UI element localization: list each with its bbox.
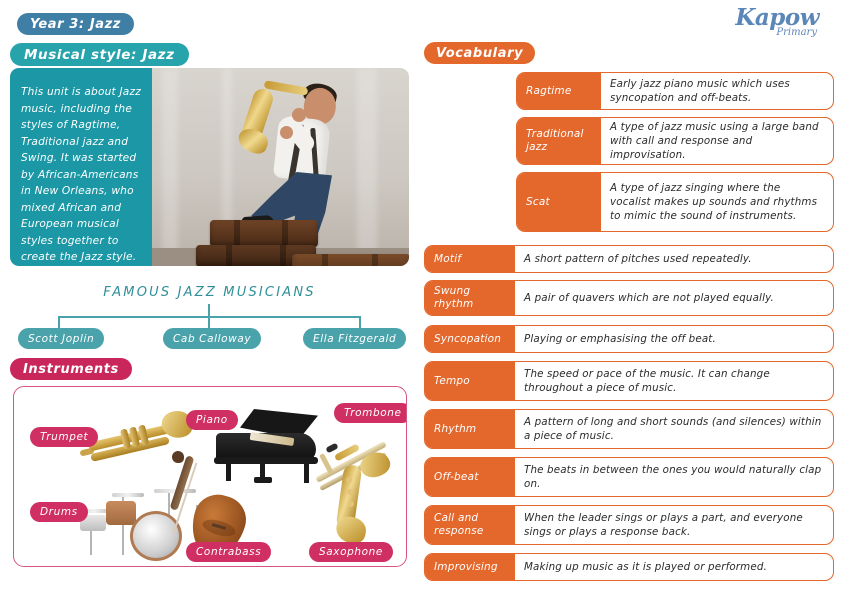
vocab-def-syncopation: Playing or emphasising the off beat. [515, 326, 833, 352]
vocab-term-syncopation: Syncopation [425, 326, 515, 352]
musician-pill-scott-joplin: Scott Joplin [18, 328, 104, 349]
boy-hand-lower [280, 126, 293, 139]
logo-wordmark: Kapow [735, 6, 819, 29]
tree-branch-left [58, 316, 60, 328]
vocab-row-improvising: Improvising Making up music as it is pla… [424, 553, 834, 581]
musician-pill-cab-calloway: Cab Calloway [163, 328, 261, 349]
vocab-row-off-beat: Off-beat The beats in between the ones y… [424, 457, 834, 497]
vocab-def-tempo: The speed or pace of the music. It can c… [515, 362, 833, 400]
instrument-pill-piano: Piano [186, 410, 238, 430]
vocab-term-call-and-response: Call and response [425, 506, 515, 544]
tree-branch-right [359, 316, 361, 328]
vocab-def-call-and-response: When the leader sings or plays a part, a… [515, 506, 833, 544]
boy-hand-upper [292, 108, 306, 122]
vocab-def-swung-rhythm: A pair of quavers which are not played e… [515, 281, 833, 315]
vocab-term-off-beat: Off-beat [425, 458, 515, 496]
vocab-term-improvising: Improvising [425, 554, 515, 580]
vocab-row-tempo: Tempo The speed or pace of the music. It… [424, 361, 834, 401]
vocab-row-ragtime: Ragtime Early jazz piano music which use… [516, 72, 834, 110]
instrument-pill-saxophone: Saxophone [309, 542, 393, 562]
instrument-pill-trumpet: Trumpet [30, 427, 98, 447]
vocab-row-syncopation: Syncopation Playing or emphasising the o… [424, 325, 834, 353]
vocab-term-traditional-jazz: Traditional jazz [517, 118, 601, 164]
saxophone-boy-photo [152, 68, 409, 266]
instrument-pill-trombone: Trombone [334, 403, 407, 423]
vocab-row-motif: Motif A short pattern of pitches used re… [424, 245, 834, 273]
suitcase-bottom [292, 254, 409, 266]
vocab-row-swung-rhythm: Swung rhythm A pair of quavers which are… [424, 280, 834, 316]
instrument-pill-contrabass: Contrabass [186, 542, 271, 562]
vocab-row-scat: Scat A type of jazz singing where the vo… [516, 172, 834, 232]
vocab-term-rhythm: Rhythm [425, 410, 515, 448]
vocab-def-off-beat: The beats in between the ones you would … [515, 458, 833, 496]
vocab-def-traditional-jazz: A type of jazz music using a large band … [601, 118, 833, 164]
vocab-term-swung-rhythm: Swung rhythm [425, 281, 515, 315]
musician-pill-ella-fitzgerald: Ella Fitzgerald [303, 328, 406, 349]
musicians-connector-tree [10, 304, 410, 328]
year-badge: Year 3: Jazz [17, 13, 134, 35]
unit-intro-text: This unit is about Jazz music, including… [10, 68, 152, 266]
vocab-term-ragtime: Ragtime [517, 73, 601, 109]
unit-intro-block: This unit is about Jazz music, including… [10, 68, 409, 266]
vocab-def-improvising: Making up music as it is played or perfo… [515, 554, 833, 580]
vocab-def-ragtime: Early jazz piano music which uses syncop… [601, 73, 833, 109]
musical-style-badge: Musical style: Jazz [10, 43, 189, 66]
vocab-term-tempo: Tempo [425, 362, 515, 400]
saxophone-bell [235, 126, 271, 157]
tree-branch-center [208, 316, 210, 328]
vocab-term-scat: Scat [517, 173, 601, 231]
instruments-badge: Instruments [10, 358, 132, 380]
instruments-panel: Trumpet Piano Trombone Drums Contrabass … [13, 386, 407, 567]
instrument-pill-drums: Drums [30, 502, 88, 522]
vocab-row-traditional-jazz: Traditional jazz A type of jazz music us… [516, 117, 834, 165]
suitcase-top [210, 220, 318, 247]
vocab-row-rhythm: Rhythm A pattern of long and short sound… [424, 409, 834, 449]
kapow-primary-logo: Kapow Primary [735, 6, 819, 38]
famous-musicians-heading: FAMOUS JAZZ MUSICIANS [0, 285, 419, 300]
vocab-def-scat: A type of jazz singing where the vocalis… [601, 173, 833, 231]
vocabulary-badge: Vocabulary [424, 42, 535, 64]
vocab-def-motif: A short pattern of pitches used repeated… [515, 246, 833, 272]
saxophone-image [314, 443, 384, 555]
knowledge-organizer-page: Year 3: Jazz Musical style: Jazz Kapow P… [0, 0, 841, 595]
vocab-term-motif: Motif [425, 246, 515, 272]
vocab-def-rhythm: A pattern of long and short sounds (and … [515, 410, 833, 448]
vocab-row-call-and-response: Call and response When the leader sings … [424, 505, 834, 545]
